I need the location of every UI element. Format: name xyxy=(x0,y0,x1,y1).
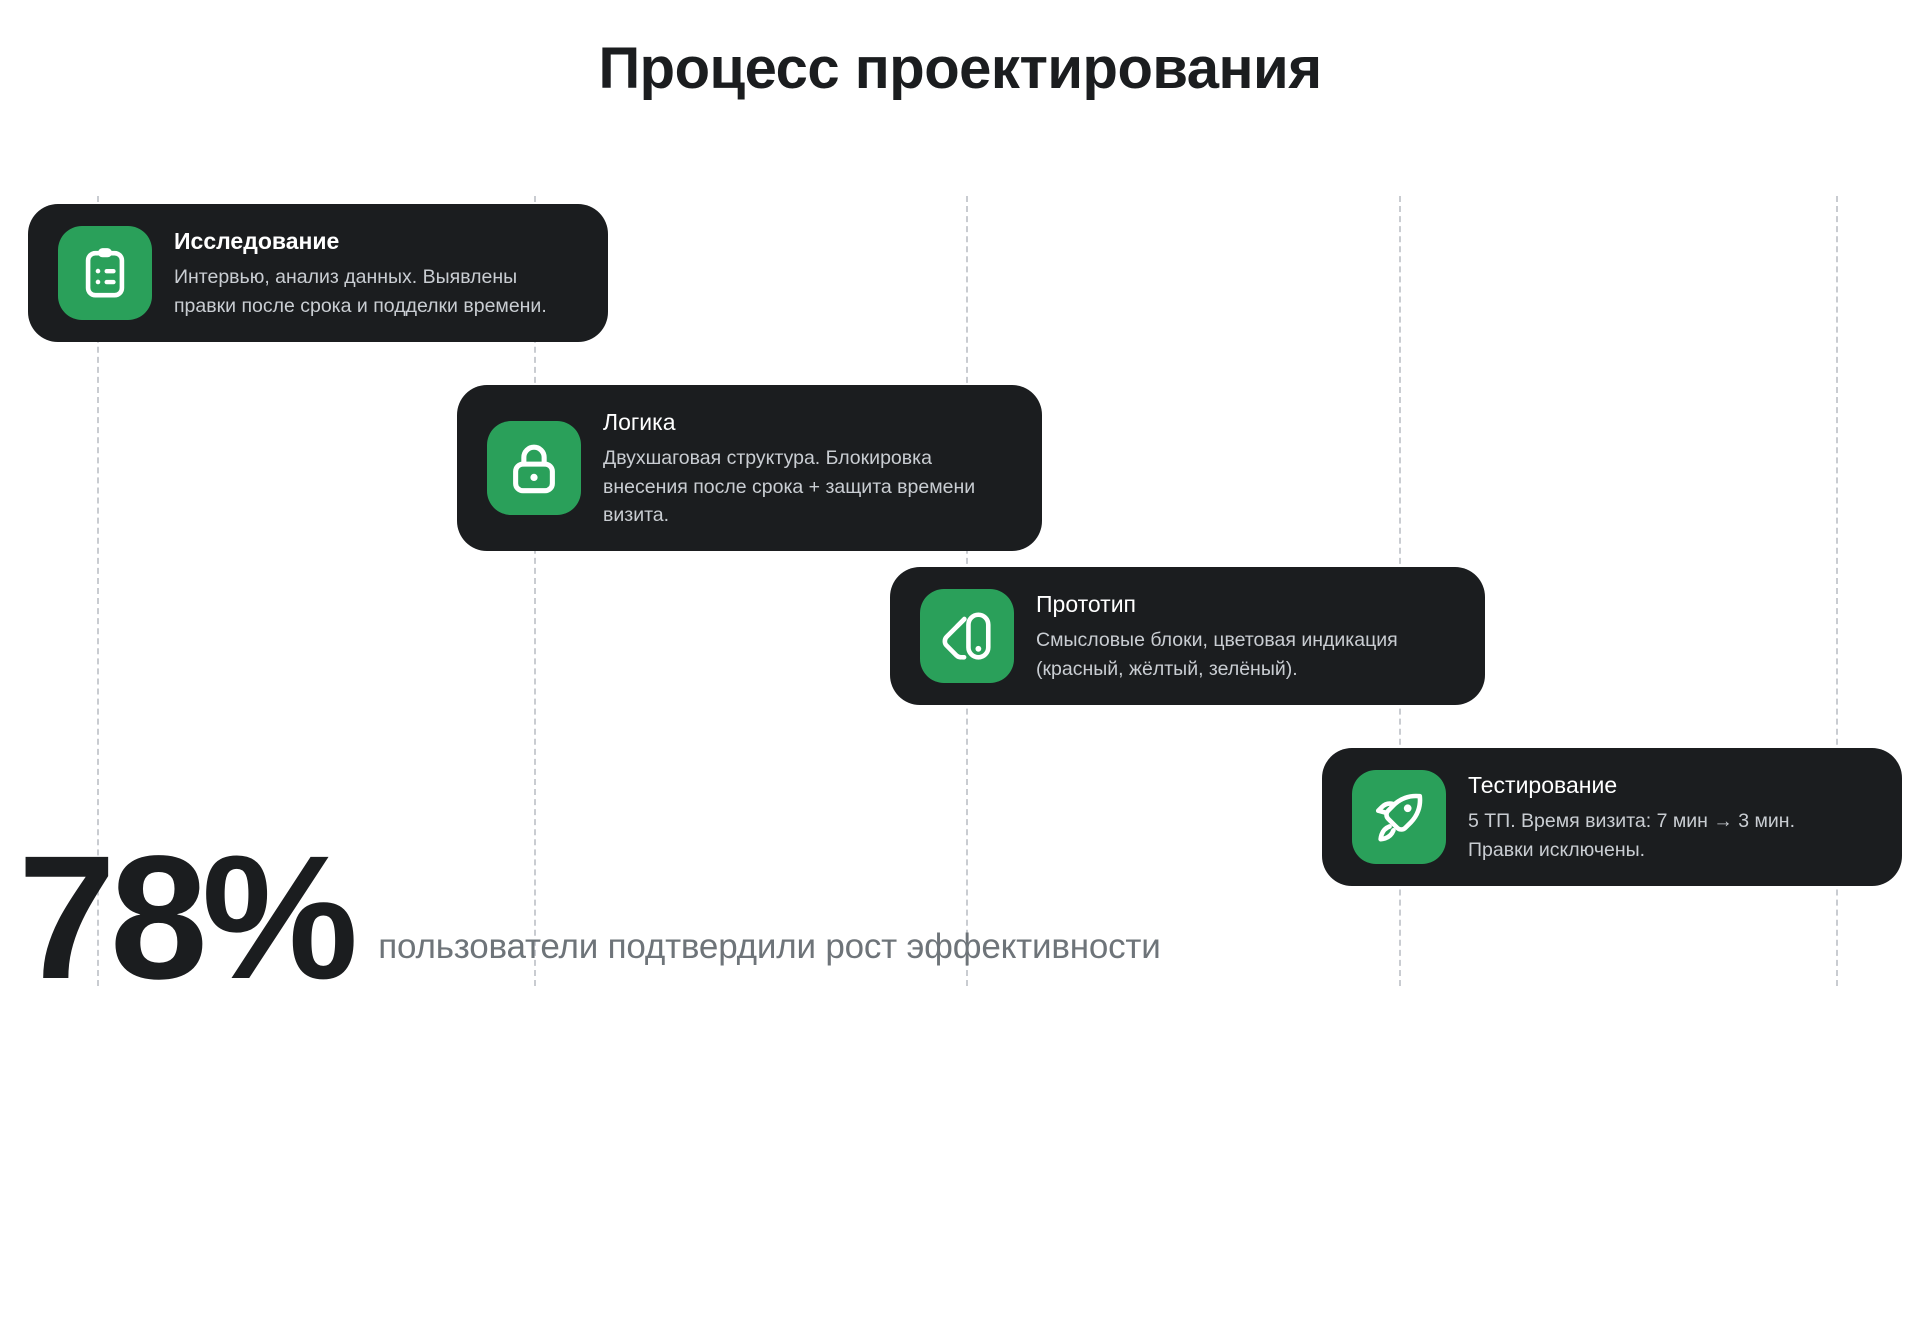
stage-card-research[interactable]: Исследование Интервью, анализ данных. Вы… xyxy=(28,204,608,342)
stage-title: Прототип xyxy=(1036,589,1455,620)
stage-title: Тестирование xyxy=(1468,770,1828,801)
lock-icon xyxy=(487,421,581,515)
stage-text: Тестирование 5 ТП. Время визита: 7 мин →… xyxy=(1468,770,1828,864)
page-title: Процесс проектирования xyxy=(0,36,1920,103)
stage-text: Прототип Смысловые блоки, цветовая индик… xyxy=(1036,589,1455,683)
rocket-icon xyxy=(1352,770,1446,864)
stat-caption: пользователи подтвердили рост эффективно… xyxy=(378,929,1160,990)
stage-card-testing[interactable]: Тестирование 5 ТП. Время визита: 7 мин →… xyxy=(1322,748,1902,886)
stage-title: Исследование xyxy=(174,226,564,257)
clipboard-list-icon xyxy=(58,226,152,320)
color-swatch-icon xyxy=(920,589,1014,683)
stage-description: Смысловые блоки, цветовая индикация (кра… xyxy=(1036,626,1455,683)
stat-value: 78% xyxy=(18,846,352,990)
stage-description: Двухшаговая структура. Блокировка внесен… xyxy=(603,444,1012,529)
stage-text: Логика Двухшаговая структура. Блокировка… xyxy=(603,407,1012,529)
stage-card-prototype[interactable]: Прототип Смысловые блоки, цветовая индик… xyxy=(890,567,1485,705)
stage-description: 5 ТП. Время визита: 7 мин → 3 мин. Правк… xyxy=(1468,807,1828,864)
stage-card-logic[interactable]: Логика Двухшаговая структура. Блокировка… xyxy=(457,385,1042,551)
stage-description: Интервью, анализ данных. Выявлены правки… xyxy=(174,263,564,320)
stage-title: Логика xyxy=(603,407,1012,438)
stage-text: Исследование Интервью, анализ данных. Вы… xyxy=(174,226,564,320)
stat-block: 78% пользователи подтвердили рост эффект… xyxy=(18,846,1161,990)
